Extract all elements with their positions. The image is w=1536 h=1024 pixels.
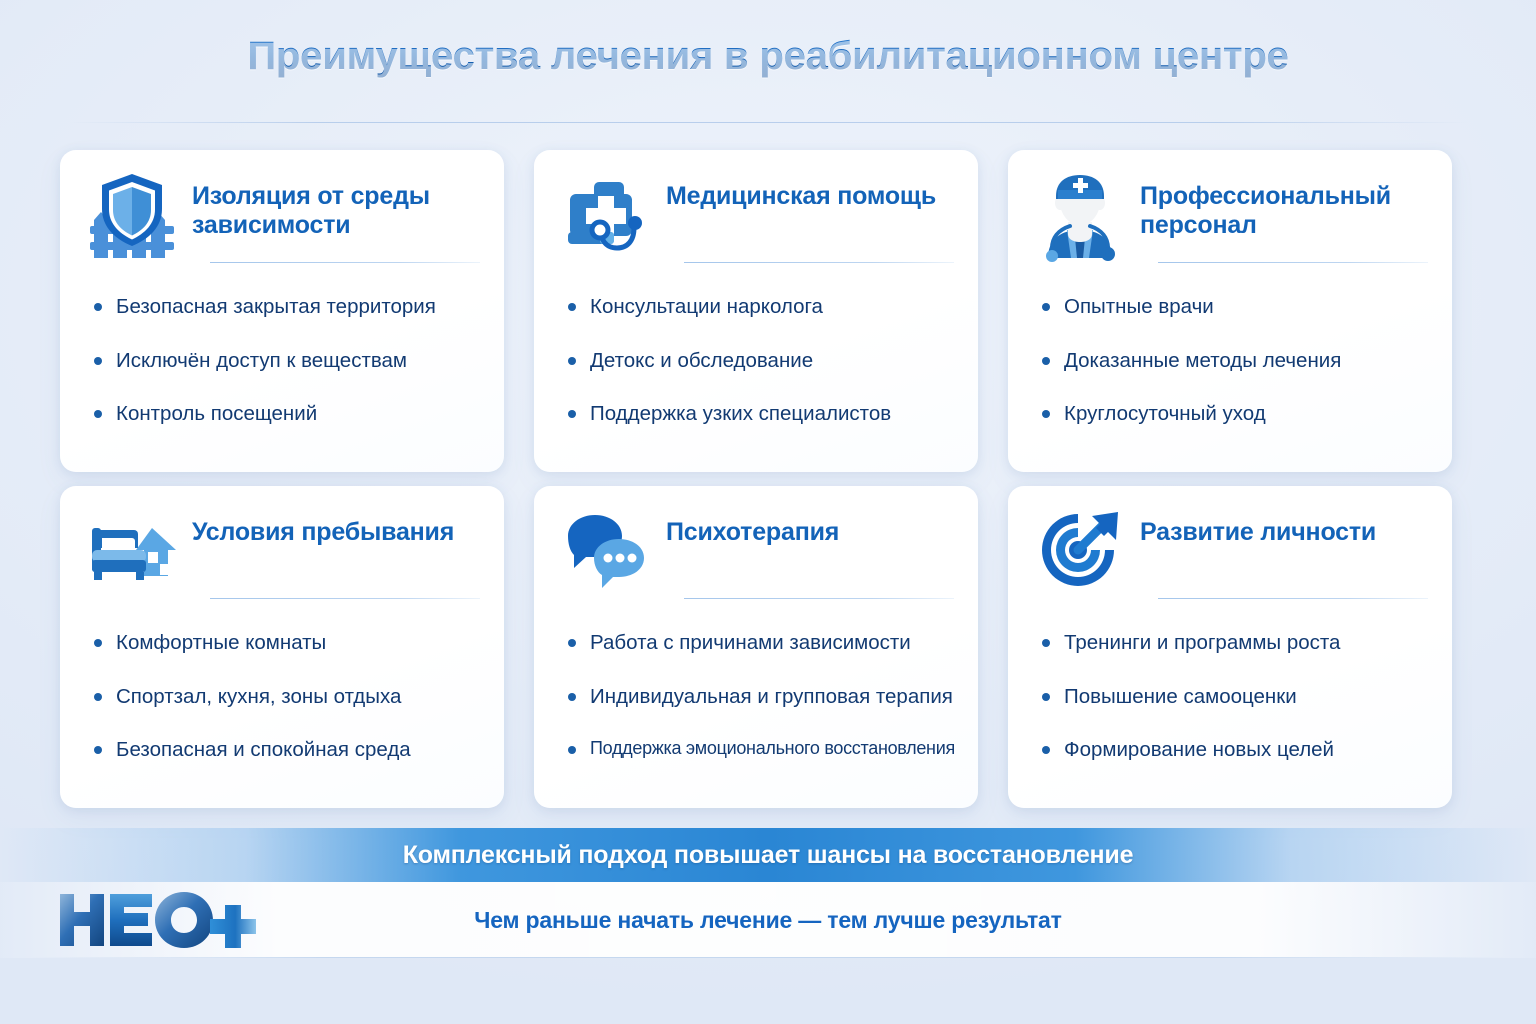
card-divider: [1158, 262, 1428, 263]
card-bullet-list: Работа с причинами зависимости Индивидуа…: [534, 608, 978, 760]
footer-sub-text: Чем раньше начать лечение — тем лучше ре…: [474, 907, 1061, 934]
card-divider: [1158, 598, 1428, 599]
list-item: Работа с причинами зависимости: [568, 630, 952, 656]
card-bullet-list: Комфортные комнаты Спортзал, кухня, зоны…: [60, 608, 504, 763]
list-item: Индивидуальная и групповая терапия: [568, 684, 952, 710]
card-title: Развитие личности: [1140, 508, 1376, 547]
card-divider: [210, 262, 480, 263]
list-item: Спортзал, кухня, зоны отдыха: [94, 684, 478, 710]
card-header: Медицинская помощь: [534, 150, 978, 272]
list-item: Исключён доступ к веществам: [94, 348, 478, 374]
neo-plus-logo: [56, 888, 256, 952]
list-item: Поддержка эмоционального восстановления: [568, 737, 952, 760]
speech-bubbles-icon: [560, 506, 652, 598]
list-item: Комфортные комнаты: [94, 630, 478, 656]
benefit-card-medical-help: Медицинская помощь Консультации нарколог…: [534, 150, 978, 472]
footer-banner-text: Комплексный подход повышает шансы на вос…: [403, 841, 1134, 870]
list-item: Опытные врачи: [1042, 294, 1426, 320]
benefit-card-psychotherapy: Психотерапия Работа с причинами зависимо…: [534, 486, 978, 808]
doctor-icon: [1034, 170, 1126, 262]
list-item: Доказанные методы лечения: [1042, 348, 1426, 374]
card-divider: [684, 262, 954, 263]
benefit-card-living-conditions: Условия пребывания Комфортные комнаты Сп…: [60, 486, 504, 808]
list-item: Круглосуточный уход: [1042, 401, 1426, 427]
infographic-page: Преимущества лечения в реабилитационном …: [0, 0, 1536, 1024]
benefit-card-isolation: Изоляция от среды зависимости Безопасная…: [60, 150, 504, 472]
card-header: Развитие личности: [1008, 486, 1452, 608]
target-arrow-icon: [1034, 506, 1126, 598]
list-item: Безопасная закрытая территория: [94, 294, 478, 320]
card-header: Профессиональный персонал: [1008, 150, 1452, 272]
card-divider: [684, 598, 954, 599]
card-header: Изоляция от среды зависимости: [60, 150, 504, 272]
card-title: Медицинская помощь: [666, 172, 936, 211]
page-title: Преимущества лечения в реабилитационном …: [247, 34, 1288, 79]
page-title-wrap: Преимущества лечения в реабилитационном …: [0, 34, 1536, 79]
benefit-card-professional-staff: Профессиональный персонал Опытные врачи …: [1008, 150, 1452, 472]
benefits-grid: Изоляция от среды зависимости Безопасная…: [60, 150, 1476, 808]
card-title: Профессиональный персонал: [1140, 172, 1426, 239]
card-header: Психотерапия: [534, 486, 978, 608]
card-bullet-list: Безопасная закрытая территория Исключён …: [60, 272, 504, 427]
list-item: Детокс и обследование: [568, 348, 952, 374]
card-header: Условия пребывания: [60, 486, 504, 608]
medical-bag-stethoscope-icon: [560, 170, 652, 262]
list-item: Повышение самооценки: [1042, 684, 1426, 710]
list-item: Формирование новых целей: [1042, 737, 1426, 763]
list-item: Поддержка узких специалистов: [568, 401, 952, 427]
list-item: Тренинги и программы роста: [1042, 630, 1426, 656]
card-bullet-list: Тренинги и программы роста Повышение сам…: [1008, 608, 1452, 763]
bed-house-icon: [86, 506, 178, 598]
benefit-card-personal-development: Развитие личности Тренинги и программы р…: [1008, 486, 1452, 808]
card-bullet-list: Опытные врачи Доказанные методы лечения …: [1008, 272, 1452, 427]
title-divider: [68, 122, 1468, 123]
list-item: Контроль посещений: [94, 401, 478, 427]
card-title: Условия пребывания: [192, 508, 454, 547]
card-title: Изоляция от среды зависимости: [192, 172, 478, 239]
list-item: Консультации нарколога: [568, 294, 952, 320]
footer-banner: Комплексный подход повышает шансы на вос…: [0, 828, 1536, 882]
list-item: Безопасная и спокойная среда: [94, 737, 478, 763]
card-divider: [210, 598, 480, 599]
shield-fence-icon: [86, 170, 178, 262]
card-title: Психотерапия: [666, 508, 839, 547]
card-bullet-list: Консультации нарколога Детокс и обследов…: [534, 272, 978, 427]
